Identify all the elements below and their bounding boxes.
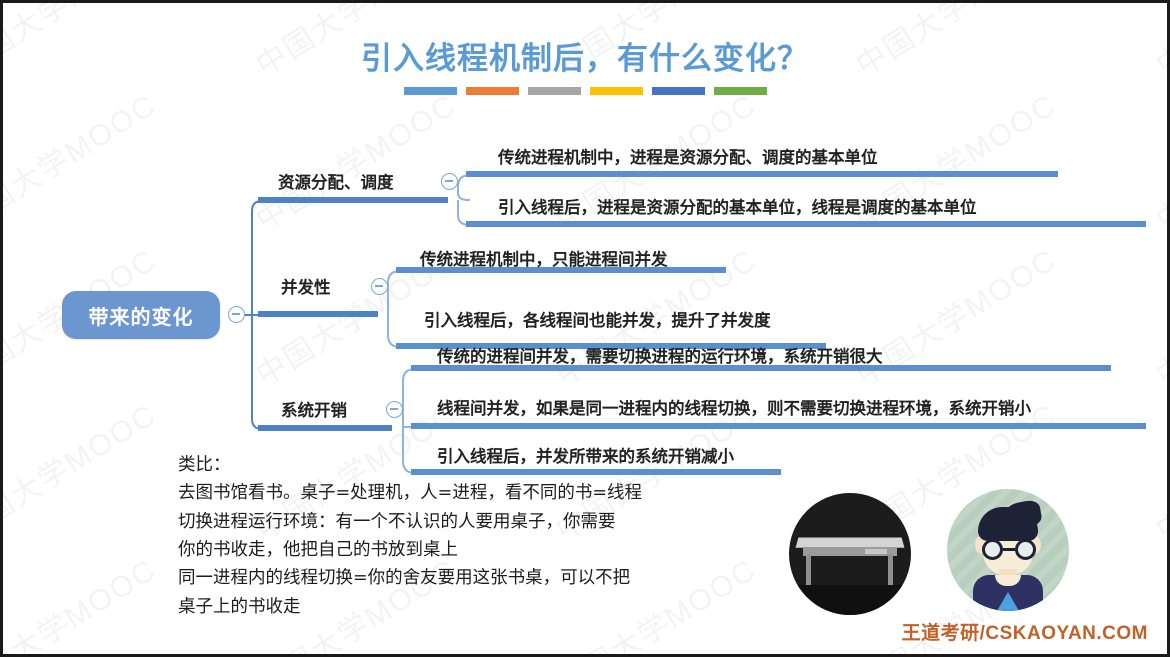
- title-color-bars: [0, 87, 1170, 95]
- root-collapse-icon[interactable]: [228, 306, 245, 323]
- branch-label-concurrency[interactable]: 并发性: [281, 274, 331, 298]
- title-color-bar-1: [404, 87, 457, 95]
- title-color-bar-5: [652, 87, 705, 95]
- leaf-label[interactable]: 传统进程机制中，进程是资源分配、调度的基本单位: [498, 144, 878, 168]
- desk-photo-icon: [789, 493, 911, 615]
- page-title: 引入线程机制后，有什么变化？: [0, 33, 1170, 78]
- branch-label-system-overhead[interactable]: 系统开销: [281, 397, 347, 421]
- student-avatar-icon: [947, 489, 1069, 611]
- title-color-bar-4: [590, 87, 643, 95]
- leaf-label[interactable]: 引入线程后，各线程间也能并发，提升了并发度: [424, 307, 771, 331]
- leaf-label[interactable]: 传统的进程间并发，需要切换进程的运行环境，系统开销很大: [437, 343, 883, 367]
- branch-label-resource-allocation[interactable]: 资源分配、调度: [278, 169, 394, 193]
- title-color-bar-6: [714, 87, 767, 95]
- title-color-bar-3: [528, 87, 581, 95]
- analogy-text: 类比： 去图书馆看书。桌子=处理机，人=进程，看不同的书=线程 切换进程运行环境…: [178, 451, 642, 621]
- mindmap-root-node[interactable]: 带来的变化: [62, 291, 220, 339]
- leaf-label[interactable]: 线程间并发，如果是同一进程内的线程切换，则不需要切换进程环境，系统开销小: [437, 395, 1031, 419]
- slide-canvas: 中国大学MOOC中国大学MOOC中国大学MOOC中国大学MOOC中国大学MOOC…: [0, 0, 1170, 657]
- footer-brand: 王道考研/CSKAOYAN.COM: [902, 618, 1148, 645]
- title-color-bar-2: [466, 87, 519, 95]
- branch-1-collapse-icon[interactable]: [441, 173, 458, 190]
- branch-2-collapse-icon[interactable]: [371, 278, 388, 295]
- leaf-label[interactable]: 引入线程后，进程是资源分配的基本单位，线程是调度的基本单位: [498, 194, 977, 218]
- leaf-label[interactable]: 传统进程机制中，只能进程间并发: [420, 246, 668, 270]
- branch-3-collapse-icon[interactable]: [386, 401, 403, 418]
- root-node-label: 带来的变化: [89, 301, 194, 330]
